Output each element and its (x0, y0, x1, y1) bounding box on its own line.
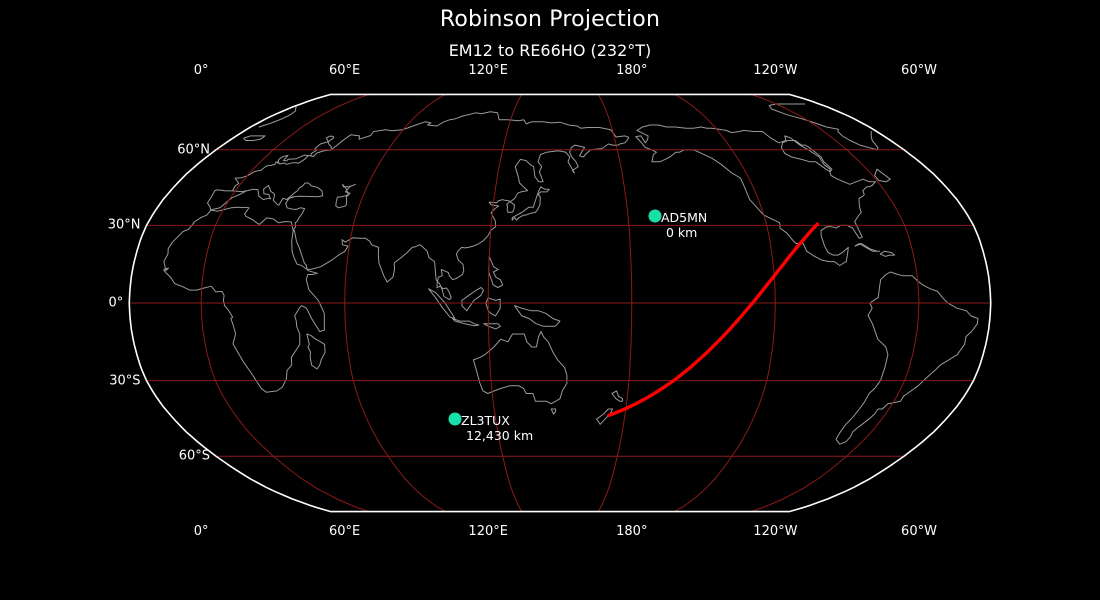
lon-label-bottom-3: 120°W (753, 524, 797, 539)
lon-label-top-0: 60°E (329, 63, 360, 78)
lon-label-top-3: 120°W (753, 63, 797, 78)
lat-label-3: 30°S (79, 373, 141, 388)
lat-label-2: 0° (61, 296, 123, 311)
lat-label-4: 60°S (148, 449, 210, 464)
station-distance: 0 km (661, 225, 707, 240)
great-circle-path (609, 224, 818, 415)
coastlines-layer (164, 104, 978, 444)
station-marker-zl3tux[interactable] (449, 413, 462, 426)
lat-label-1: 30°N (79, 218, 141, 233)
lon-label-bottom-4: 60°W (901, 524, 937, 539)
station-label-ad5mn: AD5MN0 km (661, 210, 707, 240)
lon-label-bottom-0: 60°E (329, 524, 360, 539)
station-marker-ad5mn[interactable] (649, 210, 662, 223)
station-label-zl3tux: ZL3TUX12,430 km (461, 413, 533, 443)
station-distance: 12,430 km (461, 428, 533, 443)
lon-label-top-4: 60°W (901, 63, 937, 78)
lon-label-bottom-5: 0° (194, 524, 209, 539)
lon-label-bottom-1: 120°E (468, 524, 508, 539)
station-callsign: ZL3TUX (461, 413, 533, 428)
map-figure-root: Robinson Projection EM12 to RE66HO (232°… (0, 0, 1100, 600)
lon-label-bottom-2: 180° (616, 524, 647, 539)
graticule-layer (129, 94, 990, 511)
lat-label-0: 60°N (148, 142, 210, 157)
robinson-map-canvas (0, 0, 1100, 600)
station-callsign: AD5MN (661, 210, 707, 225)
lon-label-top-5: 0° (194, 63, 209, 78)
lon-label-top-1: 120°E (468, 63, 508, 78)
lon-label-top-2: 180° (616, 63, 647, 78)
